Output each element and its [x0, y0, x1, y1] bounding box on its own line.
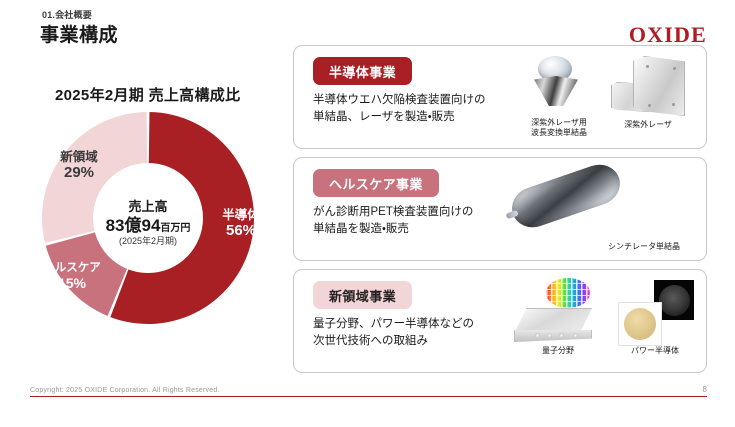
figure-quantum-field: 量子分野 — [512, 278, 604, 356]
slice-label-healthcare-name: ヘルスケア — [43, 262, 101, 274]
card-description-semiconductor: 半導体ウエハ欠陥検査装置向けの 単結晶、レーザを製造・販売 — [313, 92, 528, 125]
figure-wavelength-crystal: 深紫外レーザ用 波長変換単結晶 — [522, 56, 596, 138]
slide: 01.会社概要 事業構成 OXIDE 2025年2月期 売上高構成比 売上高 8… — [0, 0, 735, 427]
slice-label-semiconductor-name: 半導体 — [222, 208, 260, 222]
figure-caption-line1: シンチレータ単結晶 — [608, 242, 700, 252]
card-desc-line1: がん診断用PET検査装置向けの — [313, 204, 528, 221]
laser-device-icon — [611, 56, 685, 116]
business-card-new-domain[interactable]: 新領域事業 量子分野、パワー半導体などの 次世代技術への取組み — [293, 269, 707, 373]
figure-power-semiconductor: パワー半導体 — [614, 278, 696, 356]
card-desc-line2: 単結晶、レーザを製造・販売 — [313, 109, 528, 126]
card-figures-healthcare: シンチレータ単結晶 — [504, 164, 704, 258]
badge-new-domain: 新領域事業 — [313, 281, 412, 309]
chart-title: 2025年2月期 売上高構成比 — [55, 84, 240, 105]
page-title: 事業構成 — [40, 20, 118, 47]
business-cards: 半導体事業 半導体ウエハ欠陥検査装置向けの 単結晶、レーザを製造・販売 深紫外レ… — [293, 45, 707, 373]
slice-label-semiconductor: 半導体 56% — [212, 208, 270, 240]
slice-label-healthcare-pct: 15% — [36, 275, 108, 291]
card-description-healthcare: がん診断用PET検査装置向けの 単結晶を製造・販売 — [313, 204, 528, 237]
footer-divider — [30, 396, 707, 398]
sales-composition-donut-chart: 売上高 83億94百万円 (2025年2月期) 半導体 56% ヘルスケア 15… — [42, 112, 254, 324]
laser-main-body — [633, 56, 685, 116]
card-desc-line2: 次世代技術への取組み — [313, 333, 528, 350]
figure-caption: 深紫外レーザ — [608, 120, 688, 130]
figure-caption: シンチレータ単結晶 — [608, 242, 700, 252]
card-desc-line1: 半導体ウエハ欠陥検査装置向けの — [313, 92, 528, 109]
badge-healthcare: ヘルスケア事業 — [313, 169, 439, 197]
center-amount-value: 83億94 — [106, 216, 161, 235]
figure-caption: 深紫外レーザ用 波長変換単結晶 — [522, 118, 596, 138]
gold-wafer-icon — [618, 302, 662, 346]
scintillator-crystal-icon — [507, 159, 626, 233]
quantum-device-front — [514, 330, 592, 342]
business-card-semiconductor[interactable]: 半導体事業 半導体ウエハ欠陥検査装置向けの 単結晶、レーザを製造・販売 深紫外レ… — [293, 45, 707, 149]
slice-label-healthcare: ヘルスケア 15% — [36, 262, 108, 291]
figure-caption-line1: 深紫外レーザ — [608, 120, 688, 130]
card-description-new-domain: 量子分野、パワー半導体などの 次世代技術への取組み — [313, 316, 528, 349]
slice-label-new-domain: 新領域 29% — [48, 150, 110, 182]
slice-label-new-domain-name: 新領域 — [60, 150, 98, 164]
business-card-healthcare[interactable]: ヘルスケア事業 がん診断用PET検査装置向けの 単結晶を製造・販売 シンチレータ… — [293, 157, 707, 261]
badge-semiconductor: 半導体事業 — [313, 57, 412, 85]
figure-scintillator-crystal — [510, 176, 640, 216]
slice-label-new-domain-pct: 29% — [48, 164, 110, 181]
card-figures-new-domain: 量子分野 パワー半導体 — [510, 276, 702, 370]
card-figures-semiconductor: 深紫外レーザ用 波長変換単結晶 — [516, 52, 696, 146]
page-number: 8 — [703, 385, 707, 394]
figure-uv-laser: 深紫外レーザ — [608, 56, 688, 130]
center-amount-unit: 百万円 — [160, 223, 190, 234]
copyright-text: Copyright: 2025 OXIDE Corporation. All R… — [30, 387, 220, 394]
prism-crystal-icon — [534, 76, 578, 106]
figure-caption-line2: 波長変換単結晶 — [522, 128, 596, 138]
slice-label-semiconductor-pct: 56% — [212, 222, 270, 239]
card-desc-line1: 量子分野、パワー半導体などの — [313, 316, 528, 333]
quantum-device-icon — [514, 300, 600, 344]
figure-caption-line1: 深紫外レーザ用 — [522, 118, 596, 128]
card-desc-line2: 単結晶を製造・販売 — [313, 221, 528, 238]
